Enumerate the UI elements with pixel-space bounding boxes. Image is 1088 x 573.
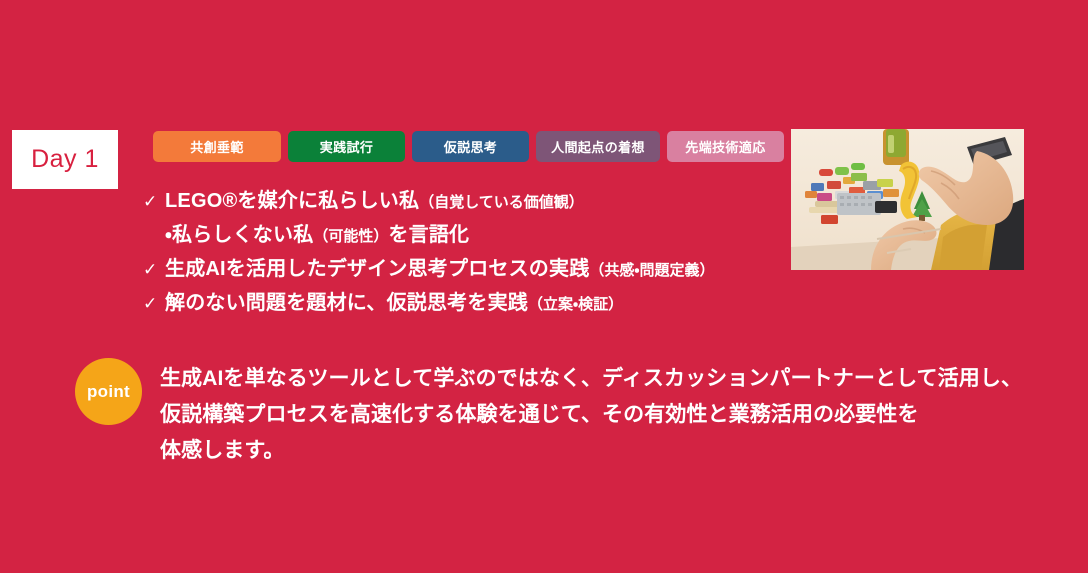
slide-root: Day 1 共創垂範 実践試行 仮説思考 人間起点の着想 先端技術適応 — [0, 0, 1088, 573]
list-item-note: （可能性） — [313, 228, 388, 245]
lego-photo-illustration — [791, 129, 1024, 270]
point-badge-label: point — [87, 383, 130, 400]
point-line-3: 体感します。 — [160, 433, 1040, 469]
day-chip-label: Day 1 — [31, 147, 99, 172]
list-item-main: ・私らしくない私 — [165, 224, 313, 246]
list-item-main-tail: を言語化 — [388, 224, 469, 246]
list-item: ✓ LEGO®を媒介に私らしい私（自覚している価値観） — [143, 186, 823, 216]
tag-ningen-kiten[interactable]: 人間起点の着想 — [536, 131, 660, 162]
lego-activity-photo — [791, 129, 1024, 270]
tag-kyousou-suihan[interactable]: 共創垂範 — [153, 131, 281, 162]
list-item-main: 解のない問題を題材に、仮説思考を実践 — [165, 292, 528, 314]
tag-sentan-gijutsu[interactable]: 先端技術適応 — [667, 131, 784, 162]
list-item-note: （立案・検証） — [528, 296, 623, 313]
day-chip: Day 1 — [12, 130, 118, 189]
tag-row: 共創垂範 実践試行 仮説思考 人間起点の着想 先端技術適応 — [153, 131, 784, 162]
list-item-note: （共感・問題定義） — [589, 262, 714, 279]
list-item-text: 生成AIを活用したデザイン思考プロセスの実践（共感・問題定義） — [165, 254, 715, 284]
bullet-list: ✓ LEGO®を媒介に私らしい私（自覚している価値観） ・私らしくない私（可能性… — [143, 186, 823, 322]
list-item-text: ・私らしくない私（可能性）を言語化 — [165, 220, 469, 250]
list-item: ✓ 解のない問題を題材に、仮説思考を実践（立案・検証） — [143, 288, 823, 318]
check-icon: ✓ — [143, 291, 165, 317]
list-item: ・私らしくない私（可能性）を言語化 — [143, 220, 823, 250]
list-item-text: 解のない問題を題材に、仮説思考を実践（立案・検証） — [165, 288, 623, 318]
point-line-1: 生成AIを単なるツールとして学ぶのではなく、ディスカッションパートナーとして活用… — [160, 361, 1040, 397]
check-icon: ✓ — [143, 189, 165, 215]
list-item-main: 生成AIを活用したデザイン思考プロセスの実践 — [165, 258, 589, 280]
check-icon: ✓ — [143, 257, 165, 283]
tag-jissen-shikou[interactable]: 実践試行 — [288, 131, 405, 162]
list-item-text: LEGO®を媒介に私らしい私（自覚している価値観） — [165, 186, 584, 216]
list-item: ✓ 生成AIを活用したデザイン思考プロセスの実践（共感・問題定義） — [143, 254, 823, 284]
point-paragraph: 生成AIを単なるツールとして学ぶのではなく、ディスカッションパートナーとして活用… — [160, 361, 1040, 469]
tag-kasetsu-shikou[interactable]: 仮説思考 — [412, 131, 529, 162]
list-item-note: （自覚している価値観） — [419, 194, 584, 211]
list-item-main: LEGO®を媒介に私らしい私 — [165, 190, 419, 212]
point-badge: point — [75, 358, 142, 425]
point-line-2: 仮説構築プロセスを高速化する体験を通じて、その有効性と業務活用の必要性を — [160, 397, 1040, 433]
